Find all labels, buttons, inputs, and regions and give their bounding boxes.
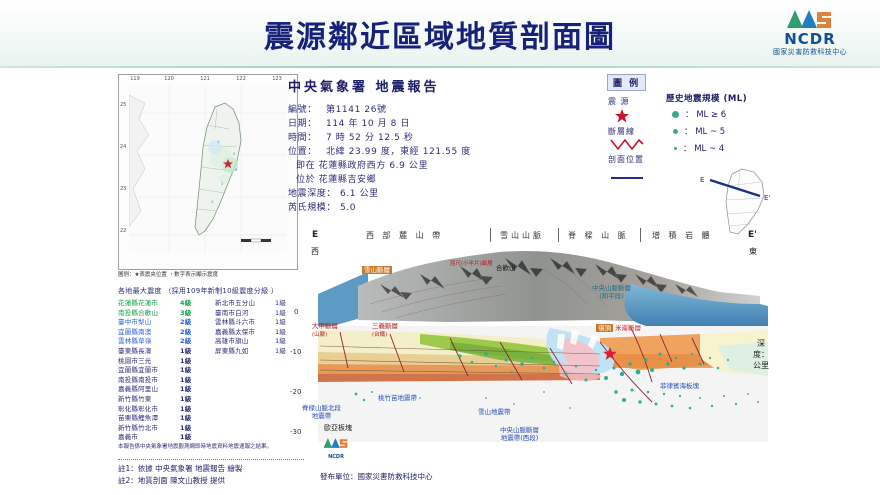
geo-label-dajia-fault: 大甲斷層(山腳) — [312, 322, 338, 339]
intensity-place: 嘉義縣阿里山 — [118, 385, 158, 395]
report-row-value: 6.1 公里 — [340, 189, 379, 199]
footnote-divider — [118, 459, 304, 460]
page-header: 震源鄰近區域地質剖面圖 NCDR 國家災害防救科技中心 — [0, 0, 880, 68]
report-row-id: 編號：第1141 26號 — [288, 103, 518, 117]
ml-dot-icon — [673, 129, 678, 134]
publisher-text: 發布單位：國家災害防救科技中心 — [320, 471, 433, 482]
geo-label-taoyuan-hsinchu-miaoli-belt: 桃竹苗地震帶 — [378, 394, 417, 402]
report-row-value: 114 年 10 月 8 日 — [326, 119, 410, 129]
table-row: 新竹縣竹東1級 — [118, 395, 208, 405]
depth-axis-caption: 深度：公里 — [752, 338, 770, 371]
intensity-level: 1級 — [180, 357, 191, 367]
page-title: 震源鄰近區域地質剖面圖 — [0, 12, 880, 56]
table-row: 新北市五分山1級 — [215, 299, 303, 309]
report-row-key: 芮氏規模： — [288, 201, 340, 215]
legend-panel: 圖 例 震 源 斷層線 剖面位置 歷史地震規模 (ML) ： ML ≥ 6 ： … — [600, 74, 800, 204]
table-row: 嘉義縣阿里山1級 — [118, 385, 208, 395]
intensity-level: 1級 — [180, 405, 191, 415]
geo-label-xueshan-fault: 雪山斷層 — [362, 266, 392, 274]
intensity-level: 1級 — [180, 433, 191, 443]
report-row-key: 時間： — [288, 131, 326, 145]
xsec-top-label-2: 脊 樑 山 脈 — [568, 230, 629, 241]
footnote-2: 註2：地質剖面 陳文山教授 提供 — [118, 475, 338, 487]
map-axis-top-tick: 121 — [200, 76, 210, 82]
ml-dot-icon — [672, 111, 679, 118]
intensity-level: 3級 — [180, 309, 191, 319]
report-row-value: 第1141 26號 — [326, 105, 387, 115]
intensity-level: 2級 — [180, 328, 191, 338]
intensity-level: 1級 — [180, 414, 191, 424]
report-row-key: 編號： — [288, 103, 326, 117]
intensity-table: 各地最大震度 （採用109年新制10級震度分級 ） 花蓮縣花蓮市4級 南投縣合歡… — [118, 286, 303, 299]
legend-fault-label: 斷層線 — [608, 126, 635, 137]
legend-hypocenter-label: 震 源 — [608, 96, 630, 107]
intensity-place: 桃園市三光 — [118, 357, 152, 367]
intensity-place: 新竹縣竹北市 — [118, 424, 158, 434]
intensity-place: 新北市五分山 — [215, 299, 255, 309]
report-disclaimer: 本報告係中央氣象署地震觀測網即時地震資料地震速報之結果。 — [118, 443, 308, 451]
table-row: 桃園市三光1級 — [118, 357, 208, 367]
intensity-level: 1級 — [180, 366, 191, 376]
intensity-column-left: 花蓮縣花蓮市4級 南投縣合歡山3級 臺中市梨山2級 宜蘭縣南澳2級 雲林縣草嶺2… — [118, 299, 208, 443]
report-row-township: 位於 花蓮縣吉安鄉 — [288, 173, 518, 187]
xsec-marker-e-prime: E' — [748, 230, 757, 240]
intensity-place: 臺東縣長濱 — [118, 347, 152, 357]
legend-ml-text: ： ML ~ 5 — [684, 125, 725, 137]
geo-label-central-range-fault-hoping: 中央山脈斷層(和平段) — [592, 284, 631, 300]
intensity-level: 1級 — [275, 328, 286, 338]
table-row: 苗栗縣鯉魚潭1級 — [118, 414, 208, 424]
legend-title: 圖 例 — [607, 74, 646, 91]
table-row: 南投縣南投市1級 — [118, 376, 208, 386]
xsec-top-label-0: 西 部 麓 山 帶 — [366, 230, 443, 241]
table-row: 彰化縣彰化市1級 — [118, 405, 208, 415]
legend-ml-row-4: ： ML ~ 4 — [672, 142, 724, 154]
report-row-depth: 地震深度：6.1 公里 — [288, 187, 518, 201]
ncdr-chinese-name: 國家災害防救科技中心 — [752, 47, 868, 57]
map-axis-left-tick: 22 — [120, 228, 126, 234]
xsec-divider — [558, 228, 559, 242]
intensity-place: 南投縣合歡山 — [118, 309, 158, 319]
intensity-level: 1級 — [275, 337, 286, 347]
map-axis-top-tick: 123 — [272, 76, 282, 82]
geo-label-central-range-fault-belt-west: 中央山脈斷層地震帶(西段) — [500, 426, 539, 442]
intensity-level: 1級 — [180, 376, 191, 386]
intensity-place: 苗栗縣鯉魚潭 — [118, 414, 158, 424]
geological-cross-section: 西 部 麓 山 帶 雪山山脈 脊 樑 山 脈 增 積 岩 體 E 西 E' 東 — [300, 228, 780, 468]
table-row: 臺南市白河1級 — [215, 309, 303, 319]
geo-label-philippine-sea-plate: 菲律賓海板塊 — [660, 382, 699, 390]
geo-label-eurasian-plate: 歐亞板塊 — [324, 424, 352, 432]
intensity-place: 花蓮縣花蓮市 — [118, 299, 158, 309]
table-row: 臺中市梨山2級 — [118, 318, 208, 328]
ncdr-mini-logo: NCDR — [318, 436, 354, 458]
xsec-divider — [490, 228, 491, 242]
report-row-distance: 即在 花蓮縣政府西方 6.9 公里 — [288, 159, 518, 173]
inset-label-e-prime: E' — [764, 194, 770, 202]
geo-label-lingding-milun-fault: 嶺頂 米崙斷層 — [596, 324, 641, 332]
intensity-place: 南投縣南投市 — [118, 376, 158, 386]
intensity-level: 1級 — [275, 309, 286, 319]
report-row-value: 北緯 23.99 度，東經 121.55 度 — [326, 147, 471, 157]
intensity-level: 4級 — [180, 299, 191, 309]
report-row-key: 地震深度： — [288, 187, 340, 201]
table-row: 嘉義市1級 — [118, 433, 208, 443]
legend-ml-row-6: ： ML ≥ 6 — [672, 108, 726, 120]
map-axis-left-tick: 25 — [120, 102, 126, 108]
intensity-place: 雲林縣草嶺 — [118, 337, 152, 347]
table-row: 宜蘭縣南澳2級 — [118, 328, 208, 338]
svg-text:1: 1 — [217, 140, 219, 144]
ncdr-acronym: NCDR — [752, 30, 868, 48]
geo-label-sanyi-fault: 三義斷層(台鐵) — [372, 322, 398, 339]
intensity-level: 1級 — [275, 347, 286, 357]
intensity-place: 宜蘭縣宜蘭市 — [118, 366, 158, 376]
intensity-place: 新竹縣竹東 — [118, 395, 152, 405]
geo-label-xueshan-seismic-belt: 雪山地震帶 — [478, 408, 511, 416]
table-row: 宜蘭縣宜蘭市1級 — [118, 366, 208, 376]
intensity-level: 1級 — [180, 347, 191, 357]
xsec-top-label-1: 雪山山脈 — [500, 230, 544, 241]
table-row: 新竹縣竹北市1級 — [118, 424, 208, 434]
intensity-level: 1級 — [180, 424, 191, 434]
map-axis-left-tick: 24 — [120, 144, 126, 150]
intensity-place: 臺中市梨山 — [118, 318, 152, 328]
map-axis-left-tick: 23 — [120, 186, 126, 192]
legend-ml-text: ： ML ~ 4 — [683, 142, 724, 154]
report-row-key: 日期： — [288, 117, 326, 131]
depth-tick: -30 — [290, 428, 301, 436]
map-caption: 圖例：★表震央位置 ・數字表示顯示震度 — [118, 270, 296, 278]
report-row-location: 位置：北緯 23.99 度，東經 121.55 度 — [288, 145, 518, 159]
ncdr-logo-mark — [752, 6, 868, 32]
ncdr-logo: NCDR 國家災害防救科技中心 — [752, 6, 868, 62]
geo-label-hehuanshan: 合歡山 — [496, 264, 516, 272]
intensity-level: 1級 — [275, 318, 286, 328]
intensity-place: 嘉義市 — [118, 433, 138, 443]
taiwan-map-graphic: 21 11 4 — [129, 85, 287, 253]
report-row-value: 5.0 — [340, 203, 356, 213]
intensity-place: 雲林縣斗六市 — [215, 318, 255, 328]
table-row: 南投縣合歡山3級 — [118, 309, 208, 319]
geo-label-chihchih-fault: 屈尺(小半片)斷層 — [450, 260, 493, 268]
report-row-value: 7 時 52 分 12.5 秒 — [326, 133, 414, 143]
intensity-level: 1級 — [180, 385, 191, 395]
report-row-time: 時間：7 時 52 分 12.5 秒 — [288, 131, 518, 145]
intensity-place: 嘉義縣太保市 — [215, 328, 255, 338]
intensity-place: 屏東縣九如 — [215, 347, 249, 357]
report-row-date: 日期：114 年 10 月 8 日 — [288, 117, 518, 131]
report-title: 中央氣象署 地震報告 — [288, 76, 518, 95]
table-row: 嘉義縣太保市1級 — [215, 328, 303, 338]
report-row-magnitude: 芮氏規模：5.0 — [288, 201, 518, 215]
taiwan-intensity-map: 119 120 121 122 123 25 24 23 22 — [118, 74, 298, 270]
intensity-level: 1級 — [180, 395, 191, 405]
svg-text:1: 1 — [211, 200, 213, 204]
depth-tick: 0 — [294, 308, 298, 316]
legend-ml-title: 歷史地震規模 (ML) — [666, 92, 747, 104]
inset-label-e: E — [700, 176, 704, 184]
map-axis-top-tick: 122 — [236, 76, 246, 82]
map-axis-top-tick: 120 — [164, 76, 174, 82]
xsec-divider — [640, 228, 641, 242]
header-divider — [0, 66, 880, 68]
depth-tick: -20 — [290, 388, 301, 396]
xsec-top-label-3: 增 積 岩 體 — [652, 230, 713, 241]
ml-dot-icon — [674, 147, 677, 150]
depth-tick: -10 — [290, 348, 301, 356]
intensity-place: 宜蘭縣南澳 — [118, 328, 152, 338]
geo-label-backbone-north-belt: 脊樑山脈北段地震帶 — [302, 404, 341, 420]
map-axis-top-tick: 119 — [130, 76, 140, 82]
intensity-place: 彰化縣彰化市 — [118, 405, 158, 415]
table-row: 高雄市旗山1級 — [215, 337, 303, 347]
legend-section-label: 剖面位置 — [608, 154, 644, 165]
table-row: 雲林縣斗六市1級 — [215, 318, 303, 328]
table-row: 花蓮縣花蓮市4級 — [118, 299, 208, 309]
legend-ml-text: ： ML ≥ 6 — [685, 108, 726, 120]
section-line-icon — [610, 168, 644, 186]
svg-text:1: 1 — [221, 182, 223, 186]
svg-text:2: 2 — [233, 152, 235, 156]
intensity-level: 1級 — [275, 299, 286, 309]
table-row: 臺東縣長濱1級 — [118, 347, 208, 357]
intensity-level: 2級 — [180, 318, 191, 328]
table-row: 雲林縣草嶺2級 — [118, 337, 208, 347]
intensity-place: 臺南市白河 — [215, 309, 249, 319]
legend-ml-row-5: ： ML ~ 5 — [672, 125, 725, 137]
ncdr-mini-acronym: NCDR — [318, 454, 354, 460]
intensity-place: 高雄市旗山 — [215, 337, 249, 347]
intensity-level: 2級 — [180, 337, 191, 347]
report-row-key: 位置： — [288, 145, 326, 159]
earthquake-report: 中央氣象署 地震報告 編號：第1141 26號 日期：114 年 10 月 8 … — [288, 76, 518, 215]
svg-text:4: 4 — [235, 168, 237, 172]
intensity-table-header: 各地最大震度 （採用109年新制10級震度分級 ） — [118, 286, 303, 296]
